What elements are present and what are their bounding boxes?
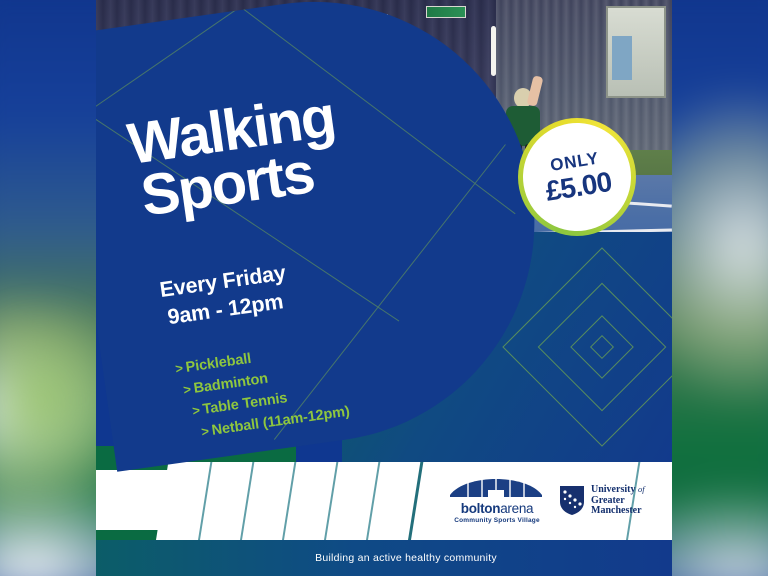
- uni-line-1: University: [591, 484, 635, 495]
- bolton-arena-logo: boltonarena Community Sports Village: [448, 478, 546, 525]
- arena-name-light: arena: [500, 501, 533, 516]
- uni-line-3: Manchester: [591, 506, 645, 517]
- uni-of: of: [638, 484, 645, 494]
- poster-canvas: Walking Sports Every Friday 9am - 12pm >…: [96, 0, 672, 576]
- footer-logos: boltonarena Community Sports Village Uni…: [448, 474, 658, 528]
- price-badge: ONLY £5.00: [518, 118, 636, 236]
- tagline-bar: Building an active healthy community: [96, 540, 672, 576]
- strip-light: [491, 26, 496, 76]
- university-logo: University of Greater Manchester: [559, 485, 645, 517]
- tagline-text: Building an active healthy community: [315, 552, 497, 564]
- arena-wordmark: boltonarena: [448, 502, 546, 516]
- court-signage: [426, 6, 466, 18]
- price-badge-amount: £5.00: [544, 168, 614, 206]
- shield-crest-icon: [559, 485, 585, 516]
- university-wordmark: University of Greater Manchester: [591, 485, 645, 517]
- stadium-roof-icon: [448, 478, 544, 500]
- arena-name-bold: bolton: [461, 501, 500, 516]
- hall-window-pane: [612, 36, 632, 80]
- arena-subtitle: Community Sports Village: [448, 517, 546, 524]
